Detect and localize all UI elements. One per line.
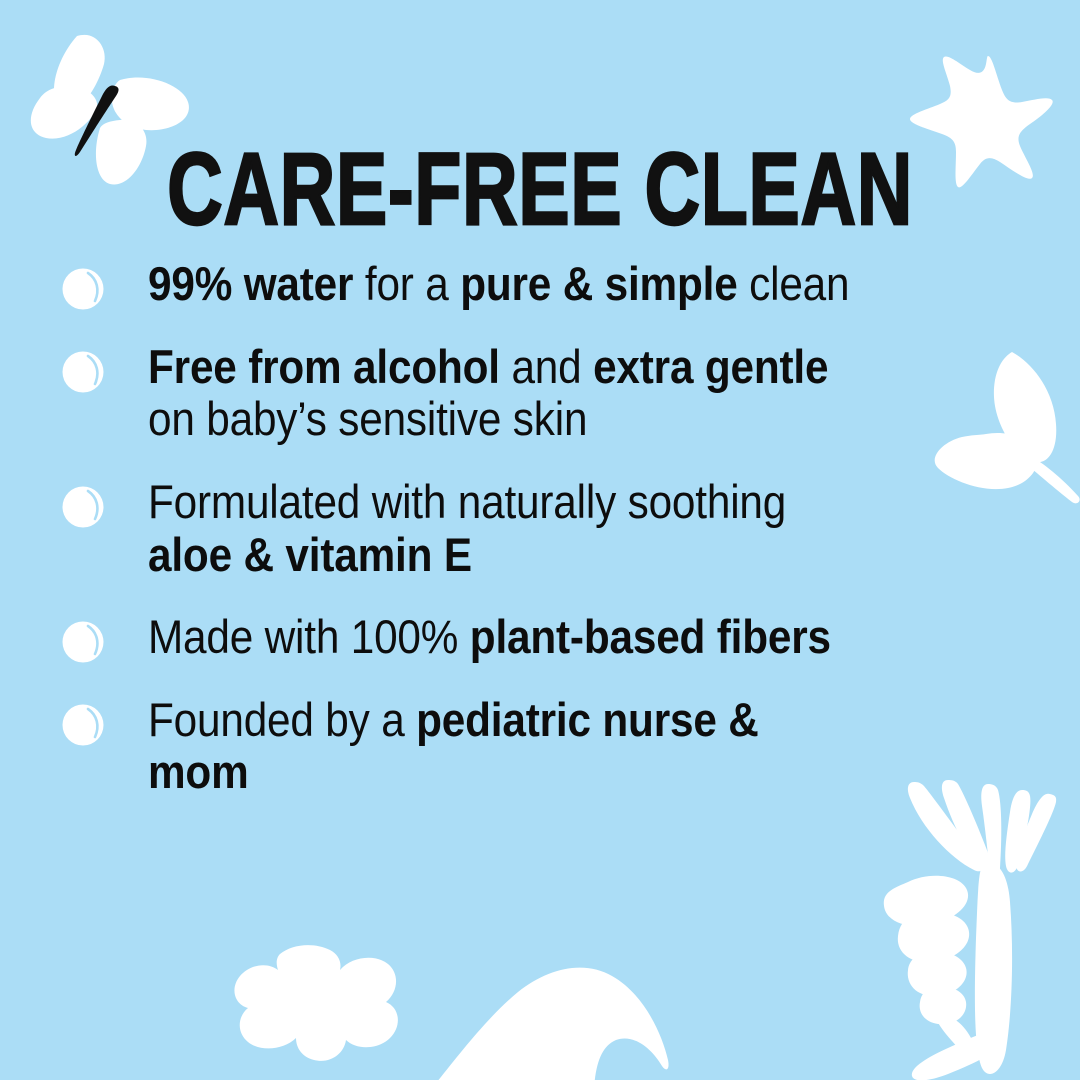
benefit-plain: Founded by a <box>148 693 416 746</box>
blossom-icon <box>196 930 421 1080</box>
benefit-emphasis: 99% water <box>148 257 353 310</box>
benefit-emphasis: extra gentle <box>593 340 828 393</box>
benefit-plain: and <box>500 340 593 393</box>
benefit-emphasis: plant-based fibers <box>470 610 831 663</box>
page-title: CARE-FREE CLEAN <box>167 139 913 241</box>
benefit-plain: Made with 100% <box>148 610 470 663</box>
benefit-row: Formulated with naturally soothing aloe … <box>0 476 1080 581</box>
benefit-row: 99% water for a pure & simple clean <box>0 258 1080 311</box>
droplet-bullet-icon <box>62 486 104 528</box>
benefit-row: Made with 100% plant-based fibers <box>0 611 1080 664</box>
benefit-emphasis: pure & simple <box>460 257 737 310</box>
droplet-bullet-icon <box>62 621 104 663</box>
benefit-plain: clean <box>738 257 850 310</box>
benefit-plain: on baby’s sensitive skin <box>148 392 587 445</box>
benefit-text: Free from alcohol and extra gentle on ba… <box>148 341 868 446</box>
benefit-emphasis: Free from alcohol <box>148 340 500 393</box>
wave-icon <box>432 958 732 1080</box>
benefit-text: Made with 100% plant-based fibers <box>148 611 868 664</box>
benefit-plain: for a <box>353 257 460 310</box>
droplet-bullet-icon <box>62 268 104 310</box>
droplet-bullet-icon <box>62 351 104 393</box>
benefit-text: 99% water for a pure & simple clean <box>148 258 868 311</box>
benefit-row: Free from alcohol and extra gentle on ba… <box>0 341 1080 446</box>
benefit-plain: Formulated with naturally soothing <box>148 475 786 528</box>
infographic-canvas: CARE-FREE CLEAN 99% water for a pure & s… <box>0 0 1080 1080</box>
droplet-bullet-icon <box>62 704 104 746</box>
benefit-emphasis: aloe & vitamin E <box>148 528 472 581</box>
benefit-text: Formulated with naturally soothing aloe … <box>148 476 868 581</box>
benefit-list: 99% water for a pure & simple clean Free… <box>0 258 1080 829</box>
benefit-text: Founded by a pediatric nurse & mom <box>148 694 868 799</box>
benefit-row: Founded by a pediatric nurse & mom <box>0 694 1080 799</box>
